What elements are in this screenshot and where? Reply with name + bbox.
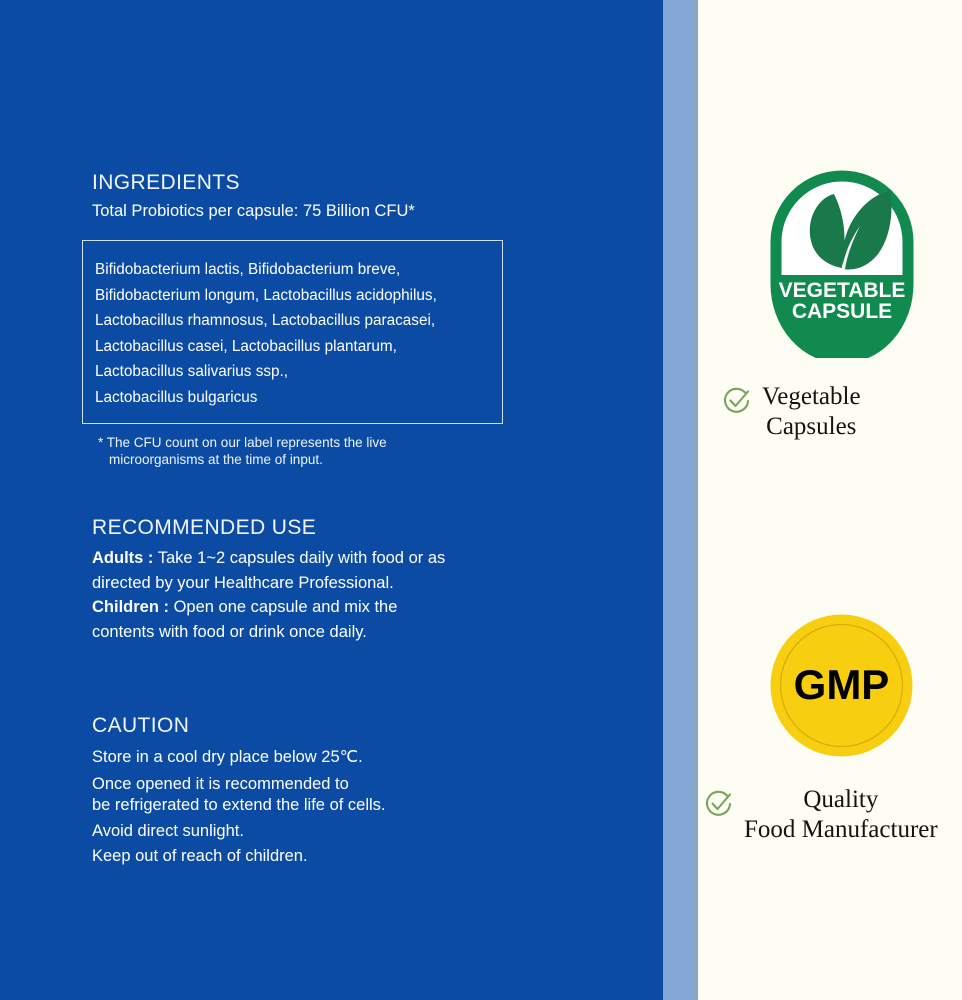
vegetable-caption-text: Vegetable Capsules: [762, 382, 861, 442]
footnote-line-2: microorganisms at the time of input.: [98, 451, 387, 468]
ingredients-subtitle: Total Probiotics per capsule: 75 Billion…: [92, 201, 632, 222]
vegetable-capsules-caption: Vegetable Capsules: [722, 382, 962, 442]
children-instruction-cont: contents with food or drink once daily.: [92, 620, 562, 645]
ingredients-footnote: * The CFU count on our label represents …: [98, 434, 387, 468]
vegetable-capsule-icon: VEGETABLE CAPSULE: [768, 168, 916, 358]
ingredient-line: Bifidobacterium longum, Lactobacillus ac…: [95, 283, 494, 309]
adults-label: Adults :: [92, 549, 153, 567]
caution-line: Store in a cool dry place below 25℃.: [92, 745, 562, 770]
gmp-seal-icon: GMP: [769, 613, 914, 758]
ingredient-line: Bifidobacterium lactis, Bifidobacterium …: [95, 257, 494, 283]
adults-text-line-1: Take 1~2 capsules daily with food or as: [153, 549, 445, 567]
ingredient-line: Lactobacillus rhamnosus, Lactobacillus p…: [95, 308, 494, 334]
caption-line-1: Quality: [803, 786, 878, 813]
children-label: Children :: [92, 598, 169, 616]
footnote-line-1: * The CFU count on our label represents …: [98, 435, 387, 450]
ingredient-line: Lactobacillus bulgaricus: [95, 385, 494, 411]
badge-text-line-1: VEGETABLE: [779, 279, 906, 302]
adults-instruction-cont: directed by your Healthcare Professional…: [92, 571, 562, 596]
product-label-page: INGREDIENTS Total Probiotics per capsule…: [0, 0, 962, 1000]
caption-line-1: Vegetable: [762, 383, 861, 410]
ingredients-section: INGREDIENTS Total Probiotics per capsule…: [92, 170, 632, 223]
vegetable-capsule-badge: VEGETABLE CAPSULE: [768, 168, 916, 358]
ingredients-box: Bifidobacterium lactis, Bifidobacterium …: [82, 240, 503, 424]
divider-band-periwinkle: [663, 0, 691, 1000]
caution-line: Keep out of reach of children.: [92, 844, 562, 869]
caution-heading: CAUTION: [92, 713, 632, 738]
divider-band-steel: [691, 0, 698, 1000]
gmp-caption: Quality Food Manufacturer: [704, 785, 962, 845]
children-text-line-1: Open one capsule and mix the: [169, 598, 397, 616]
check-circle-icon: [722, 386, 752, 421]
ingredients-list: Bifidobacterium lactis, Bifidobacterium …: [95, 257, 494, 410]
check-circle-icon: [704, 789, 734, 824]
recommended-use-body: Adults : Take 1~2 capsules daily with fo…: [92, 546, 562, 644]
adults-instruction: Adults : Take 1~2 capsules daily with fo…: [92, 546, 562, 571]
caption-line-2: Food Manufacturer: [744, 816, 938, 843]
children-instruction: Children : Open one capsule and mix the: [92, 595, 562, 620]
caution-body: Store in a cool dry place below 25℃. Onc…: [92, 745, 562, 869]
recommended-use-section: RECOMMENDED USE Adults : Take 1~2 capsul…: [92, 515, 632, 644]
ingredient-line: Lactobacillus salivarius ssp.,: [95, 359, 494, 385]
caution-line: Avoid direct sunlight.: [92, 819, 562, 844]
caution-line: be refrigerated to extend the life of ce…: [92, 795, 562, 816]
recommended-use-heading: RECOMMENDED USE: [92, 515, 632, 540]
caption-line-2: Capsules: [766, 413, 856, 440]
gmp-caption-text: Quality Food Manufacturer: [744, 785, 938, 845]
ingredients-heading: INGREDIENTS: [92, 170, 632, 195]
caution-section: CAUTION Store in a cool dry place below …: [92, 713, 632, 869]
caution-line: Once opened it is recommended to: [92, 774, 562, 795]
gmp-badge-text: GMP: [794, 661, 890, 708]
certification-badges: VEGETABLE CAPSULE Vegetable Capsules: [698, 0, 962, 1000]
ingredient-line: Lactobacillus casei, Lactobacillus plant…: [95, 334, 494, 360]
badge-text-line-2: CAPSULE: [792, 300, 892, 323]
gmp-badge: GMP: [769, 613, 914, 758]
